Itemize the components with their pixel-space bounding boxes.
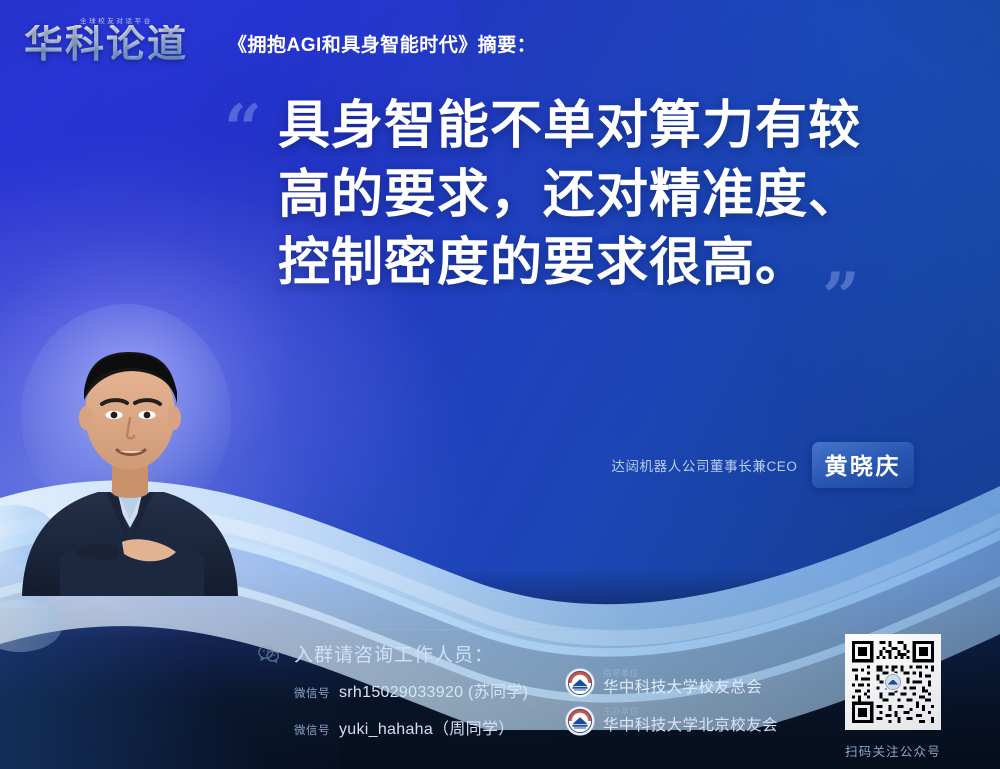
footer-divider <box>260 629 800 630</box>
poster-canvas: 全球校友对话平台 华科论道 《拥抱AGI和具身智能时代》摘要： “ ” 具身智能… <box>0 0 1000 769</box>
wechat-icon <box>258 645 280 663</box>
speaker-portrait <box>14 296 244 596</box>
organizer-name: 华中科技大学校友总会 <box>603 680 762 696</box>
organizer-texts: 指导单位 华中科技大学校友总会 <box>603 669 762 696</box>
page-title: 《拥抱AGI和具身智能时代》摘要： <box>228 30 536 64</box>
organizer-list: 指导单位 华中科技大学校友总会 主办单位 华中科技大学北京校友会 <box>565 668 778 744</box>
contact-label: 微信号 <box>294 685 330 701</box>
speaker-name-badge: 黄晓庆 <box>812 442 915 488</box>
qr-caption: 扫码关注公众号 <box>838 741 948 760</box>
quote-line: 高的要求，还对精准度、 <box>278 161 922 230</box>
university-seal-icon <box>565 706 595 736</box>
contact-label: 微信号 <box>294 722 330 738</box>
university-seal-icon <box>565 668 595 698</box>
speaker-role: 达闼机器人公司董事长兼CEO <box>611 455 797 475</box>
speaker-attribution: 达闼机器人公司董事长兼CEO 黄晓庆 <box>611 442 914 488</box>
brand-tagline: 全球校友对话平台 <box>80 15 153 25</box>
contact-value: yuki_hahaha（周同学） <box>339 715 515 739</box>
brand-logo[interactable]: 全球校友对话平台 华科论道 <box>24 16 214 64</box>
quote-line: 具身智能不单对算力有较 <box>278 92 922 161</box>
organizer-row: 指导单位 华中科技大学校友总会 <box>565 668 778 698</box>
organizer-name: 华中科技大学北京校友会 <box>603 718 778 734</box>
organizer-texts: 主办单位 华中科技大学北京校友会 <box>603 707 778 734</box>
footer-title: 入群请咨询工作人员： <box>294 640 494 667</box>
qr-block: 扫码关注公众号 <box>838 634 948 760</box>
header: 全球校友对话平台 华科论道 《拥抱AGI和具身智能时代》摘要： <box>24 16 536 64</box>
brand-logo-text: 华科论道 <box>24 25 214 64</box>
qr-code-icon[interactable] <box>845 634 941 730</box>
quote-block: “ ” 具身智能不单对算力有较 高的要求，还对精准度、 控制密度的要求很高。 <box>222 92 922 298</box>
organizer-kind: 主办单位 <box>603 707 778 716</box>
organizer-kind: 指导单位 <box>603 669 762 678</box>
organizer-row: 主办单位 华中科技大学北京校友会 <box>565 706 778 736</box>
quote-line: 控制密度的要求很高。 <box>278 229 922 298</box>
contact-value: srh15029033920 (苏同学) <box>339 678 528 702</box>
footer-heading-row: 入群请咨询工作人员： <box>258 640 818 667</box>
quote-lines: 具身智能不单对算力有较 高的要求，还对精准度、 控制密度的要求很高。 <box>222 92 922 298</box>
